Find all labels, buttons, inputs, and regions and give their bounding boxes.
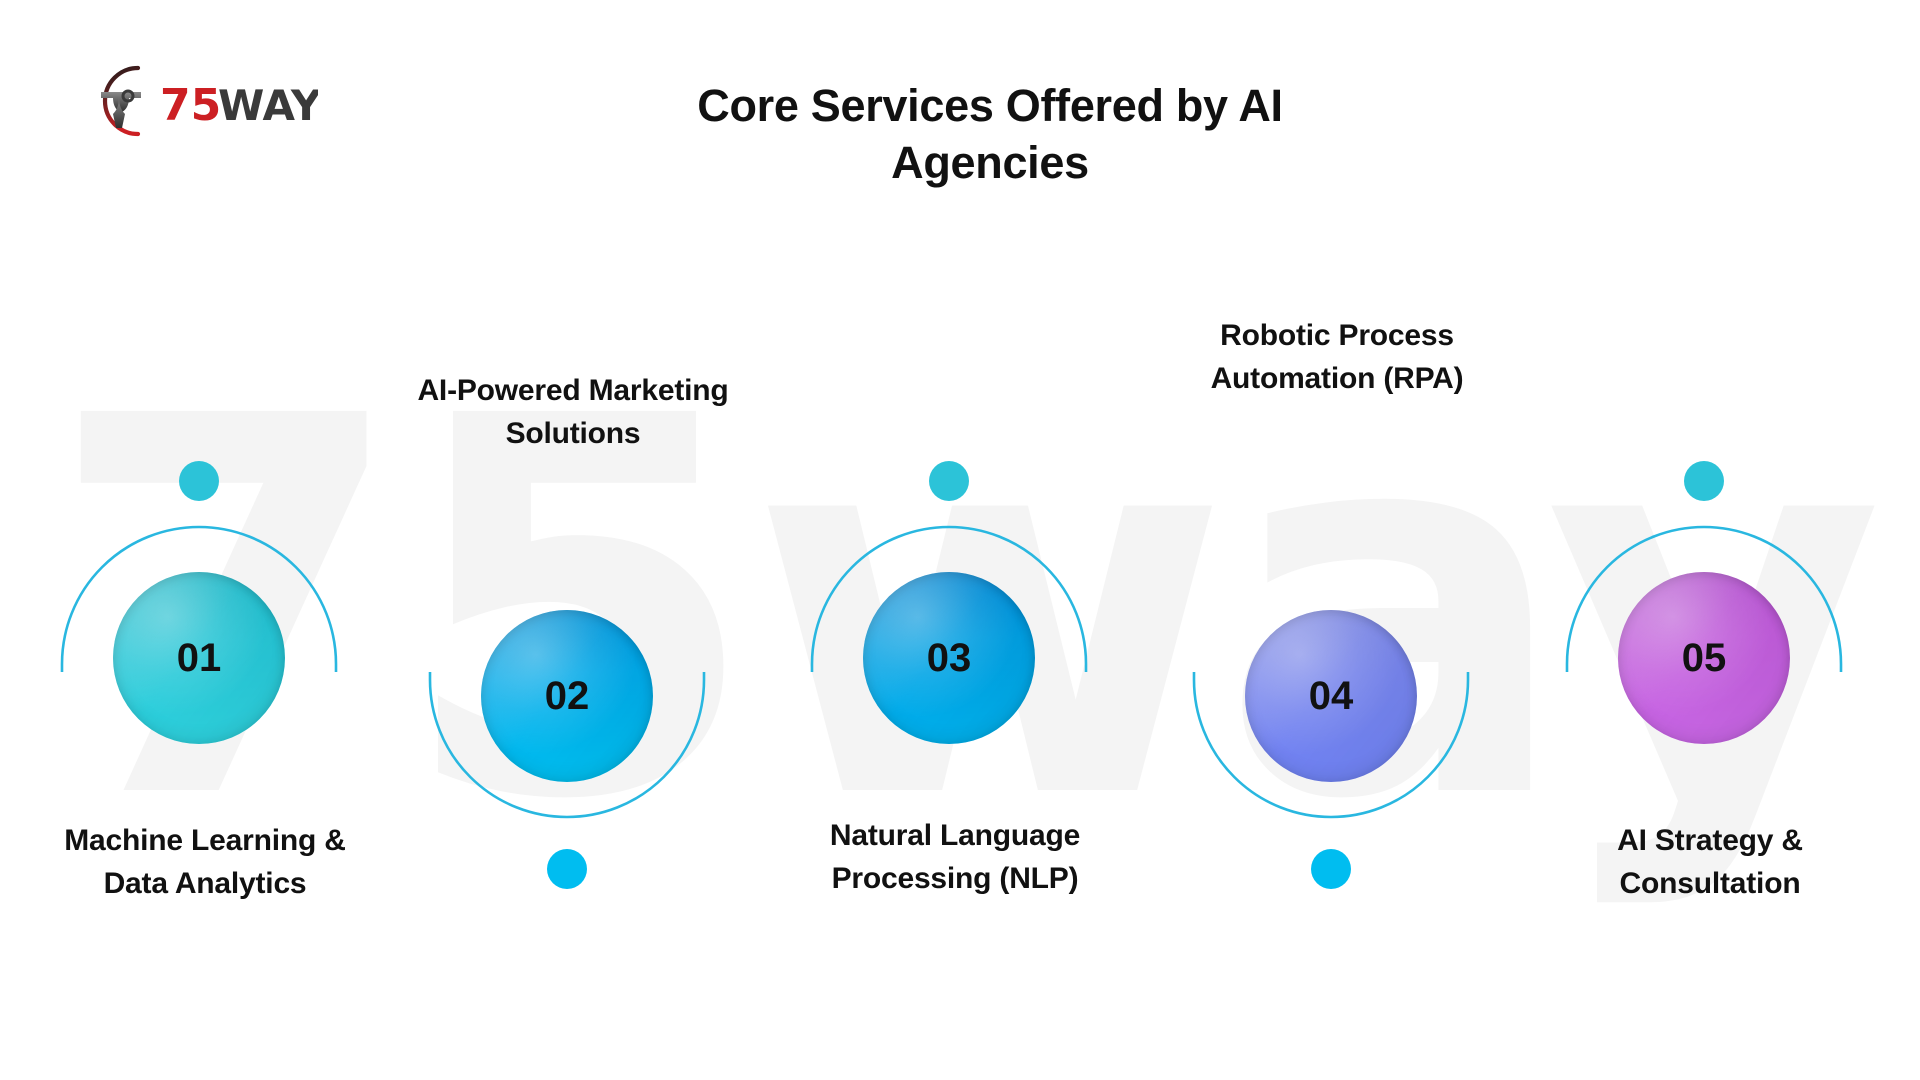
step-03-number: 03 (927, 636, 972, 681)
logo-word: WAY (218, 81, 318, 130)
step-02-number: 02 (545, 674, 590, 719)
step-05-number: 05 (1682, 636, 1727, 681)
step-03-number-badge[interactable]: 03 (863, 572, 1035, 744)
step-01-number: 01 (177, 636, 222, 681)
step-05-dot (1684, 461, 1724, 501)
step-01-arc (40, 0, 370, 1080)
page-title: Core Services Offered by AI Agencies (610, 78, 1370, 191)
brand-logo[interactable]: 75 WAY (78, 58, 318, 144)
step-02-dot (547, 849, 587, 889)
step-04-dot (1311, 849, 1351, 889)
step-02-label: AI-Powered Marketing Solutions (408, 370, 738, 455)
step-03-label: Natural Language Processing (NLP) (790, 815, 1120, 900)
step-05[interactable]: 05 AI Strategy & Consultation (1545, 0, 1875, 1080)
logo-number: 75 (160, 80, 221, 131)
step-04-label: Robotic Process Automation (RPA) (1172, 315, 1502, 400)
step-02-number-badge[interactable]: 02 (481, 610, 653, 782)
step-04-number-badge[interactable]: 04 (1245, 610, 1417, 782)
step-05-arc (1545, 0, 1875, 1080)
step-03-dot (929, 461, 969, 501)
step-05-label: AI Strategy & Consultation (1545, 820, 1875, 905)
step-01-number-badge[interactable]: 01 (113, 572, 285, 744)
75way-logo-icon: 75 WAY (78, 58, 318, 144)
step-01-dot (179, 461, 219, 501)
step-01-label: Machine Learning & Data Analytics (40, 820, 370, 905)
step-04-number: 04 (1309, 674, 1354, 719)
step-05-number-badge[interactable]: 05 (1618, 572, 1790, 744)
step-01[interactable]: 01 Machine Learning & Data Analytics (40, 0, 370, 1080)
